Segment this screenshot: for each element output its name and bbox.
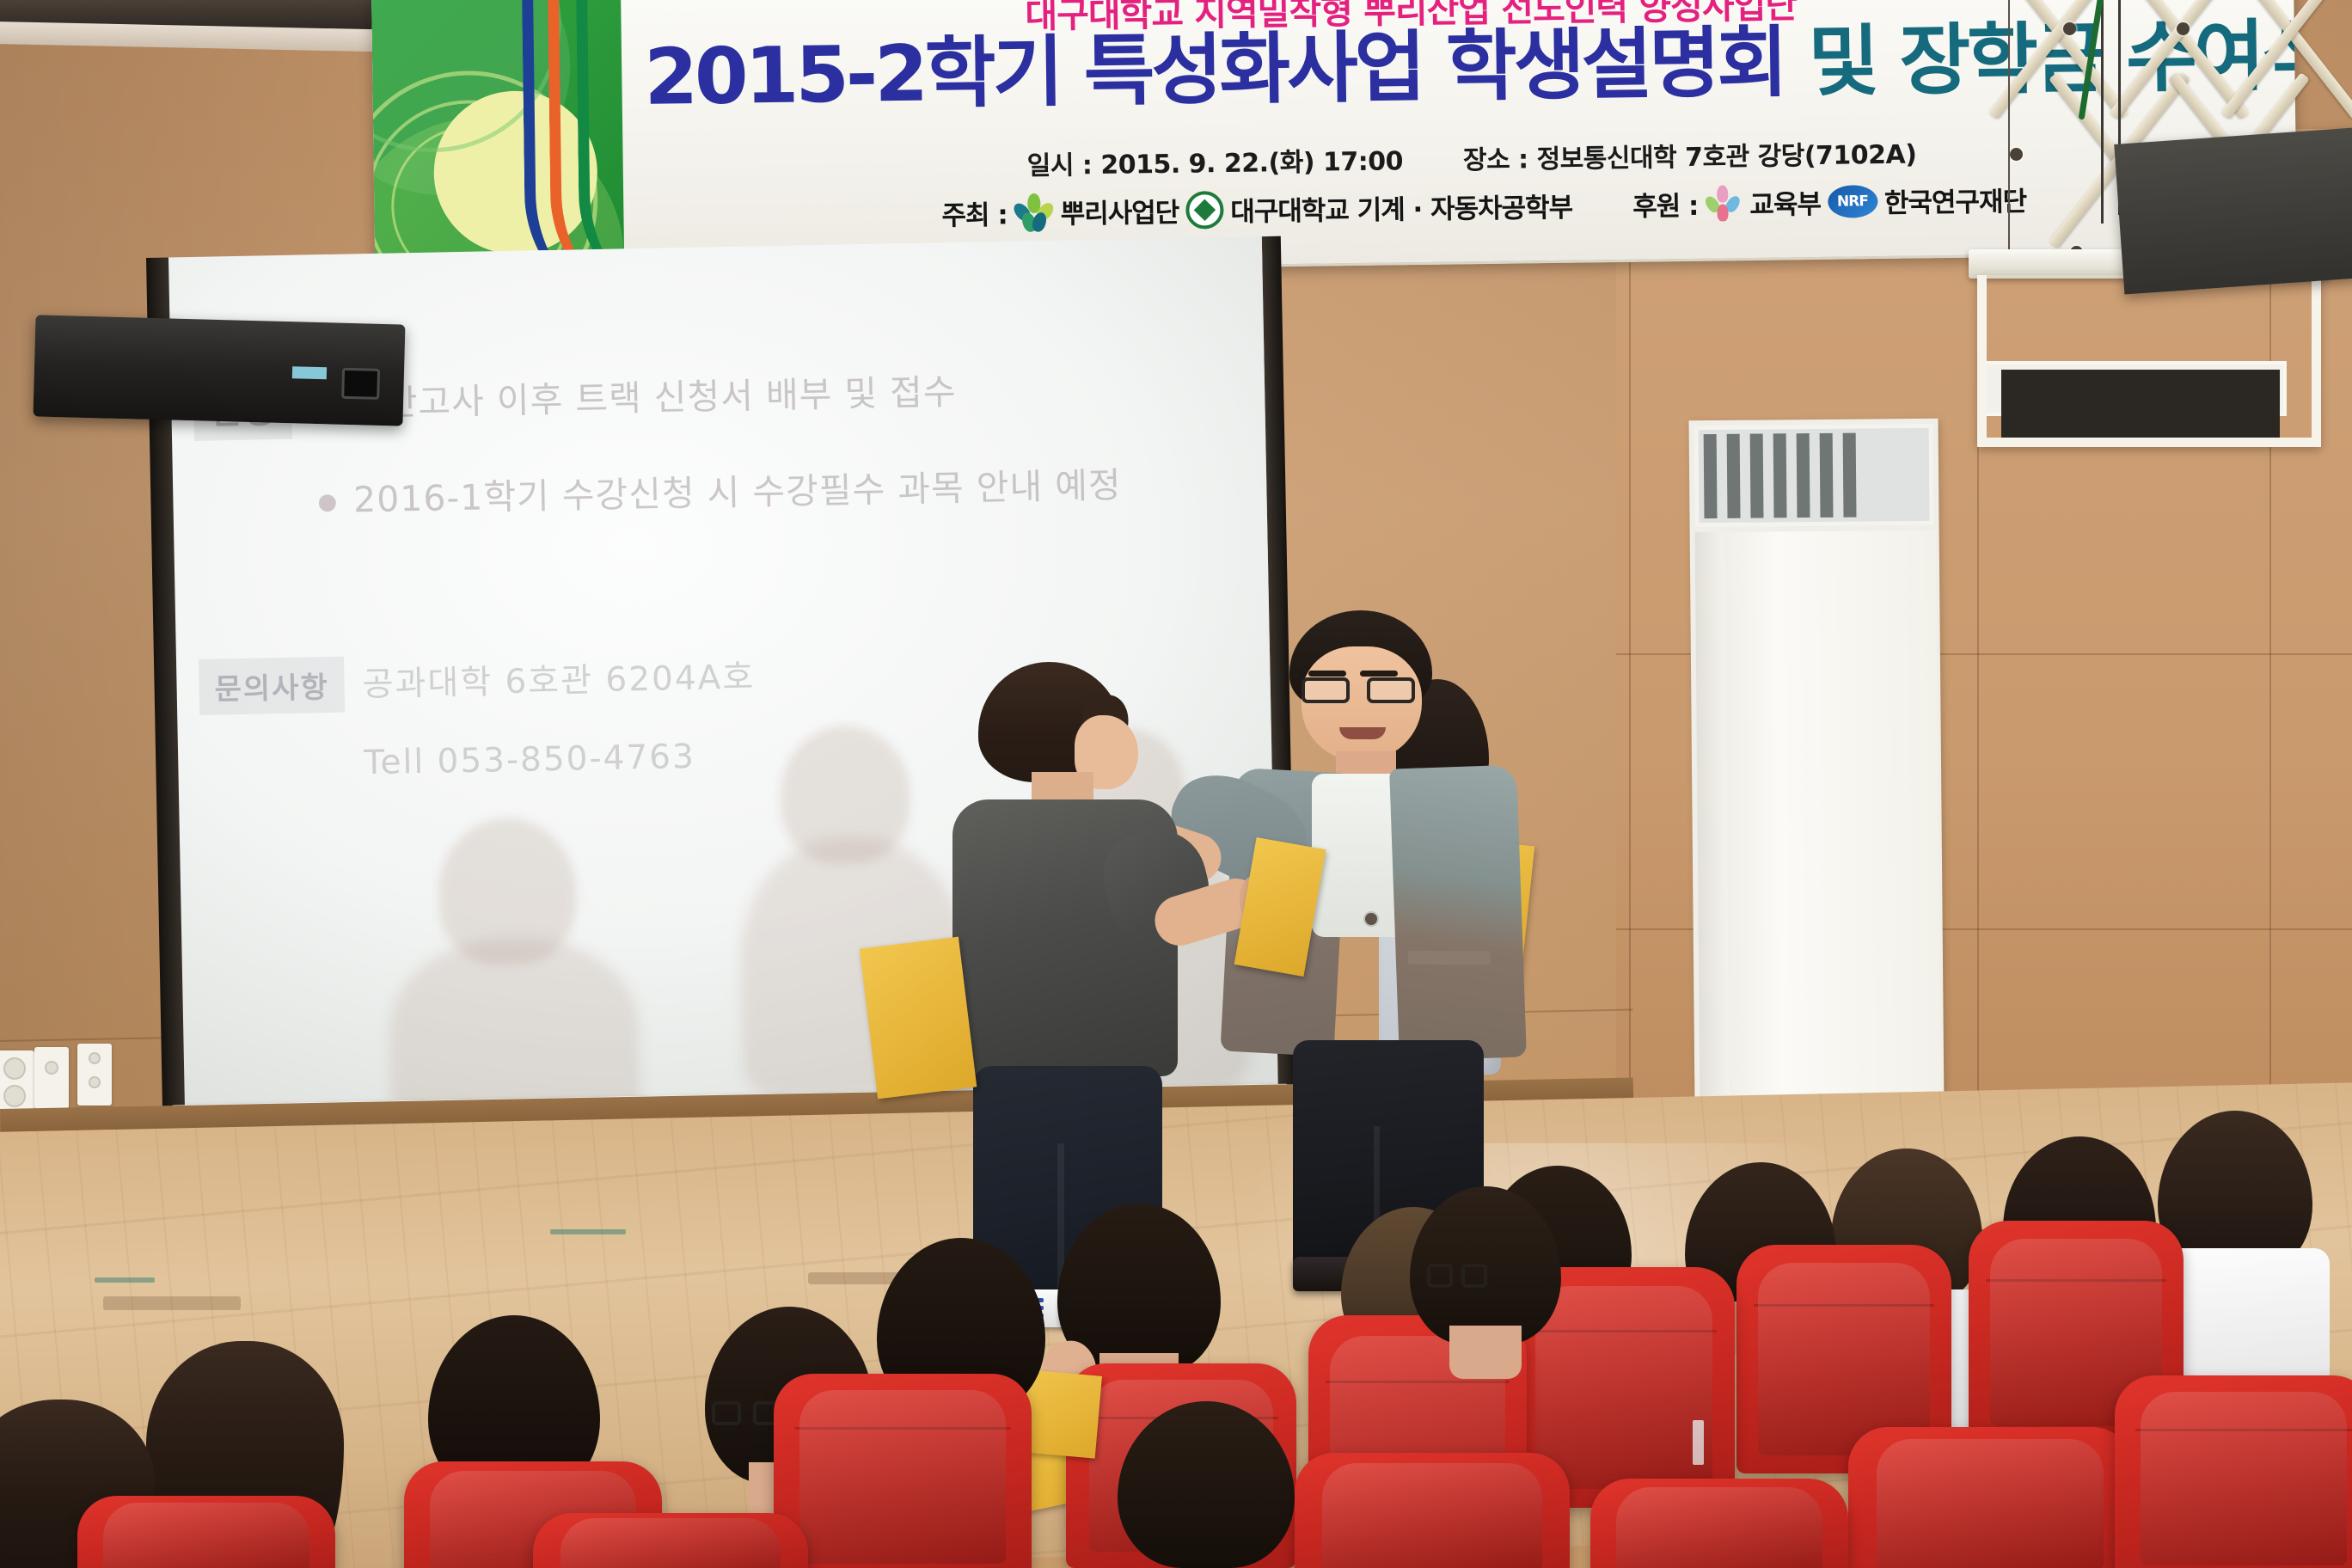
auditorium-seat[interactable]: [77, 1496, 335, 1568]
side-door[interactable]: [1689, 419, 1945, 1109]
wall-seam: [1629, 129, 1631, 1143]
slide-bullet-2: 2016-1학기 수강신청 시 수강필수 과목 안내 예정: [317, 456, 1122, 523]
date-value: 2015. 9. 22.(화) 17:00: [1100, 146, 1403, 181]
slide-bullet-1: 중간고사 이후 트랙 신청서 배부 및 접수: [315, 363, 957, 426]
host-org1: 뿌리사업단: [1060, 191, 1179, 231]
host-label: 주최 :: [941, 193, 1008, 232]
eyeglasses-icon: [1302, 677, 1424, 703]
light-switch[interactable]: [34, 1047, 69, 1109]
host-org2: 대구대학교 기계 · 자동차공학부: [1230, 186, 1572, 229]
ceiling-speaker: [2114, 127, 2352, 294]
banner-meta: 일시 : 2015. 9. 22.(화) 17:00장소 : 정보통신대학 7호…: [1026, 132, 1916, 182]
auditorium-seat[interactable]: [1848, 1427, 2132, 1568]
door-transom-louver: [1694, 424, 1934, 527]
door-leaf[interactable]: [1724, 530, 1941, 1104]
auditorium-seat[interactable]: [1590, 1479, 1848, 1568]
floor-scuff: [103, 1296, 241, 1310]
auditorium-seat[interactable]: [2115, 1375, 2352, 1568]
daegu-univ-logo-icon: [1185, 191, 1224, 230]
auditorium-photo: 대구대학교 지역밀착형 뿌리산업 선도인력 양성사업단 2015-2학기 특성화…: [0, 0, 2352, 1568]
projector-label: [292, 366, 327, 379]
power-outlet[interactable]: [0, 1050, 34, 1114]
ppuri-logo-icon: [1014, 193, 1054, 231]
projector-lens-icon: [341, 368, 380, 400]
award-envelope: [860, 937, 977, 1099]
banner-title-part1: 2015-2학기 특성화사업 학생설명회: [644, 17, 1785, 122]
nrf-logo-icon: NRF: [1828, 185, 1877, 218]
banner-sponsors: 주최 : 뿌리사업단 대구대학교 기계 · 자동차공학부 후원 : 교육부 NR…: [941, 180, 2026, 233]
place-label: 장소 :: [1463, 144, 1528, 175]
floor-tape-mark: [95, 1277, 155, 1283]
slide-contact-room: 공과대학 6호관 6204A호: [362, 651, 756, 707]
sponsor-label: 후원 :: [1632, 184, 1699, 224]
slide-tag-contact: 문의사항: [199, 657, 345, 715]
date-label: 일시 :: [1027, 150, 1093, 181]
ceiling-projector: [34, 315, 406, 426]
auditorium-seat[interactable]: [533, 1513, 808, 1568]
floor-tape-mark: [550, 1229, 626, 1234]
av-jack-plate[interactable]: [77, 1044, 112, 1106]
audience-head: [1118, 1401, 1295, 1568]
sponsor-org1: 교육부: [1749, 182, 1821, 222]
auditorium-seat[interactable]: [1295, 1453, 1570, 1568]
eyeglasses-icon: [1427, 1264, 1487, 1288]
professor-jacket: [1389, 765, 1527, 1062]
moe-logo-icon: [1705, 185, 1743, 222]
suspension-wire: [2008, 0, 2010, 249]
slide-contact-tel: Tell 053-850-4763: [364, 738, 695, 782]
place-value: 정보통신대학 7호관 강당(7102A): [1536, 139, 1916, 175]
projector-cage: [1977, 275, 2321, 447]
auditorium-seat[interactable]: [774, 1374, 1032, 1568]
